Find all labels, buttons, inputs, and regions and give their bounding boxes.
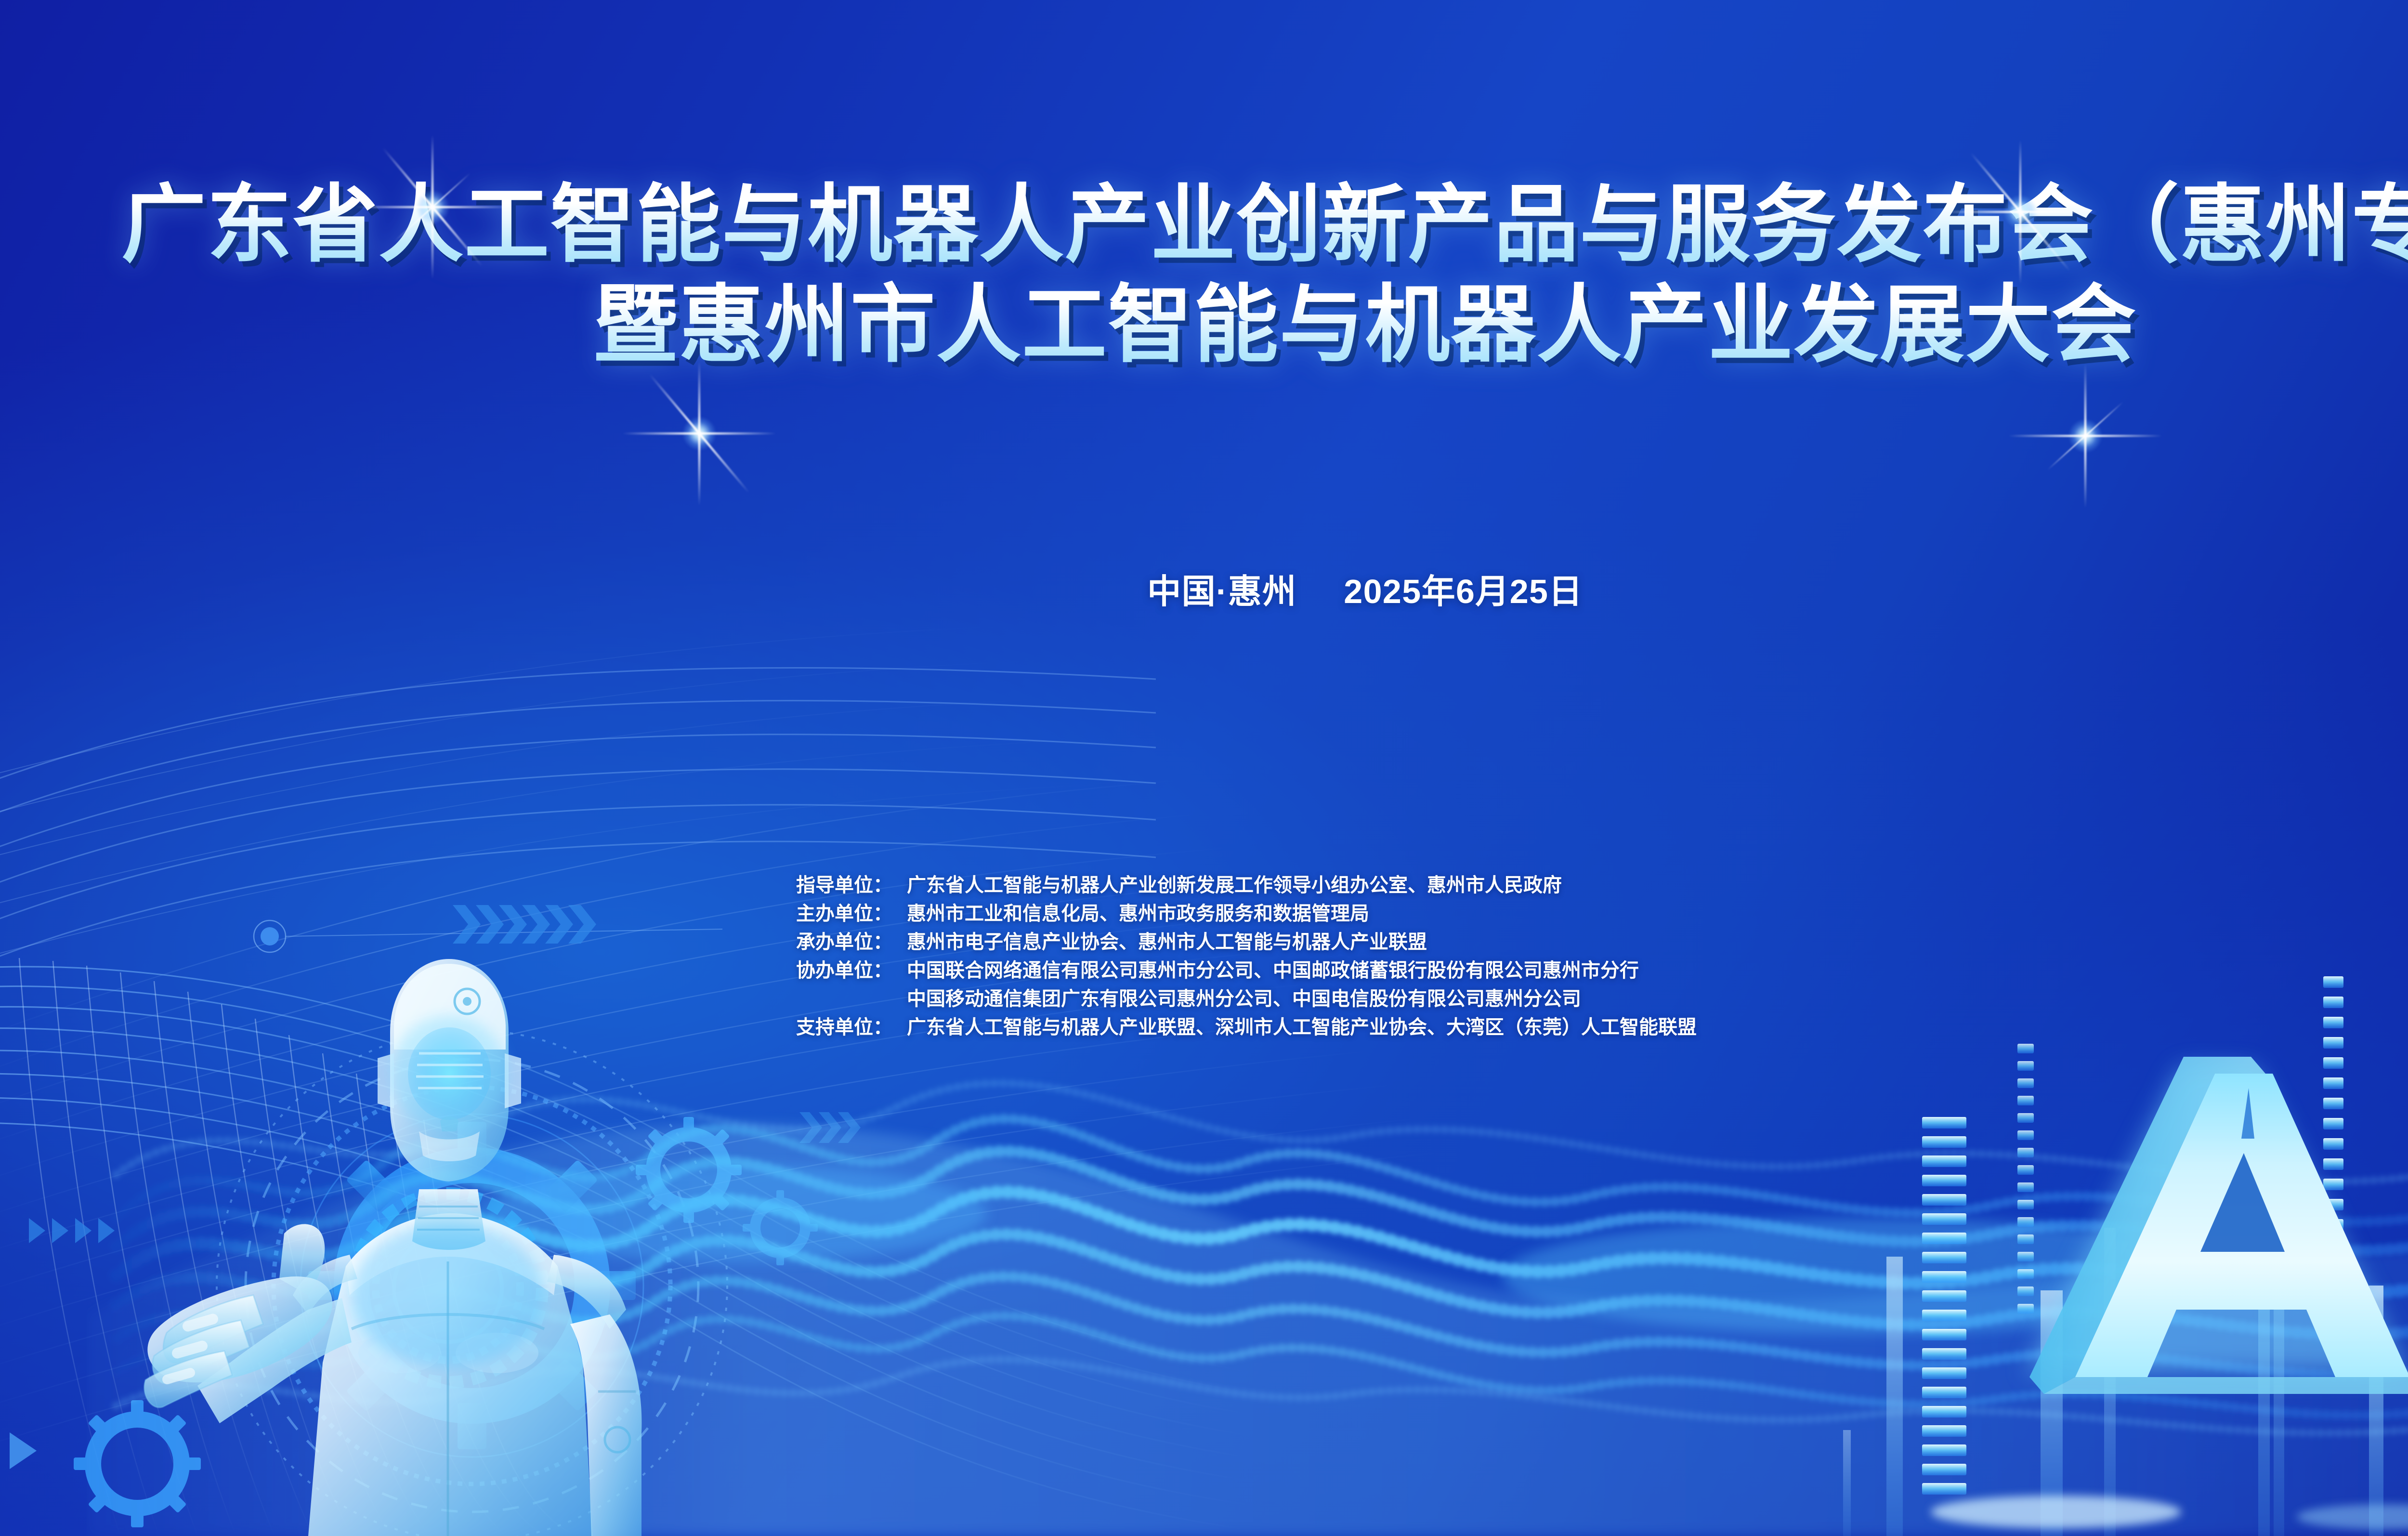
organizer-value: 广东省人工智能与机器人产业创新发展工作领导小组办公室、惠州市人民政府 [907, 876, 1697, 895]
robot-figure [82, 929, 722, 1536]
subtitle-location: 中国·惠州 [1147, 573, 1296, 610]
organizer-row: 协办单位：中国联合网络通信有限公司惠州市分公司、中国邮政储蓄银行股份有限公司惠州… [796, 961, 1697, 980]
organizer-label: 承办单位： [796, 932, 907, 952]
organizer-label: 主办单位： [796, 904, 907, 923]
organizer-row: 支持单位：广东省人工智能与机器人产业联盟、深圳市人工智能产业协会、大湾区（东莞）… [796, 1018, 1697, 1037]
ai-logo [1767, 862, 2408, 1536]
organizer-row: 协办单位：中国移动通信集团广东有限公司惠州分公司、中国电信股份有限公司惠州分公司 [796, 989, 1697, 1009]
subtitle-date: 2025年6月25日 [1344, 573, 1583, 610]
organizer-row: 主办单位：惠州市工业和信息化局、惠州市政务服务和数据管理局 [796, 904, 1697, 923]
poster-canvas: 广东省人工智能与机器人产业创新产品与服务发布会（惠州专场） 暨惠州市人工智能与机… [0, 0, 2408, 1536]
title-line-2: 暨惠州市人工智能与机器人产业发展大会 [0, 279, 2408, 372]
organizer-value: 中国联合网络通信有限公司惠州市分公司、中国邮政储蓄银行股份有限公司惠州市分行 [907, 961, 1697, 980]
organizer-label: 支持单位： [796, 1018, 907, 1037]
organizer-value: 广东省人工智能与机器人产业联盟、深圳市人工智能产业协会、大湾区（东莞）人工智能联… [907, 1018, 1697, 1037]
organizer-row: 承办单位：惠州市电子信息产业协会、惠州市人工智能与机器人产业联盟 [796, 932, 1697, 952]
organizer-value: 中国移动通信集团广东有限公司惠州分公司、中国电信股份有限公司惠州分公司 [907, 989, 1697, 1009]
robot-ear-left [378, 1053, 394, 1108]
organizer-list: 指导单位：广东省人工智能与机器人产业创新发展工作领导小组办公室、惠州市人民政府主… [796, 876, 1697, 1046]
organizer-label: 协办单位： [796, 961, 907, 980]
poster-title: 广东省人工智能与机器人产业创新产品与服务发布会（惠州专场） 暨惠州市人工智能与机… [0, 179, 2408, 372]
chevron-triangle-small-icon [10, 1432, 37, 1469]
organizer-label: 指导单位： [796, 876, 907, 895]
title-line-1: 广东省人工智能与机器人产业创新产品与服务发布会（惠州专场） [0, 179, 2408, 272]
poster-subtitle: 中国·惠州 2025年6月25日 [0, 565, 2408, 613]
robot-ear-right [505, 1053, 521, 1108]
organizer-value: 惠州市电子信息产业协会、惠州市人工智能与机器人产业联盟 [907, 932, 1697, 952]
organizer-row: 指导单位：广东省人工智能与机器人产业创新发展工作领导小组办公室、惠州市人民政府 [796, 876, 1697, 895]
organizer-value: 惠州市工业和信息化局、惠州市政务服务和数据管理局 [907, 904, 1697, 923]
